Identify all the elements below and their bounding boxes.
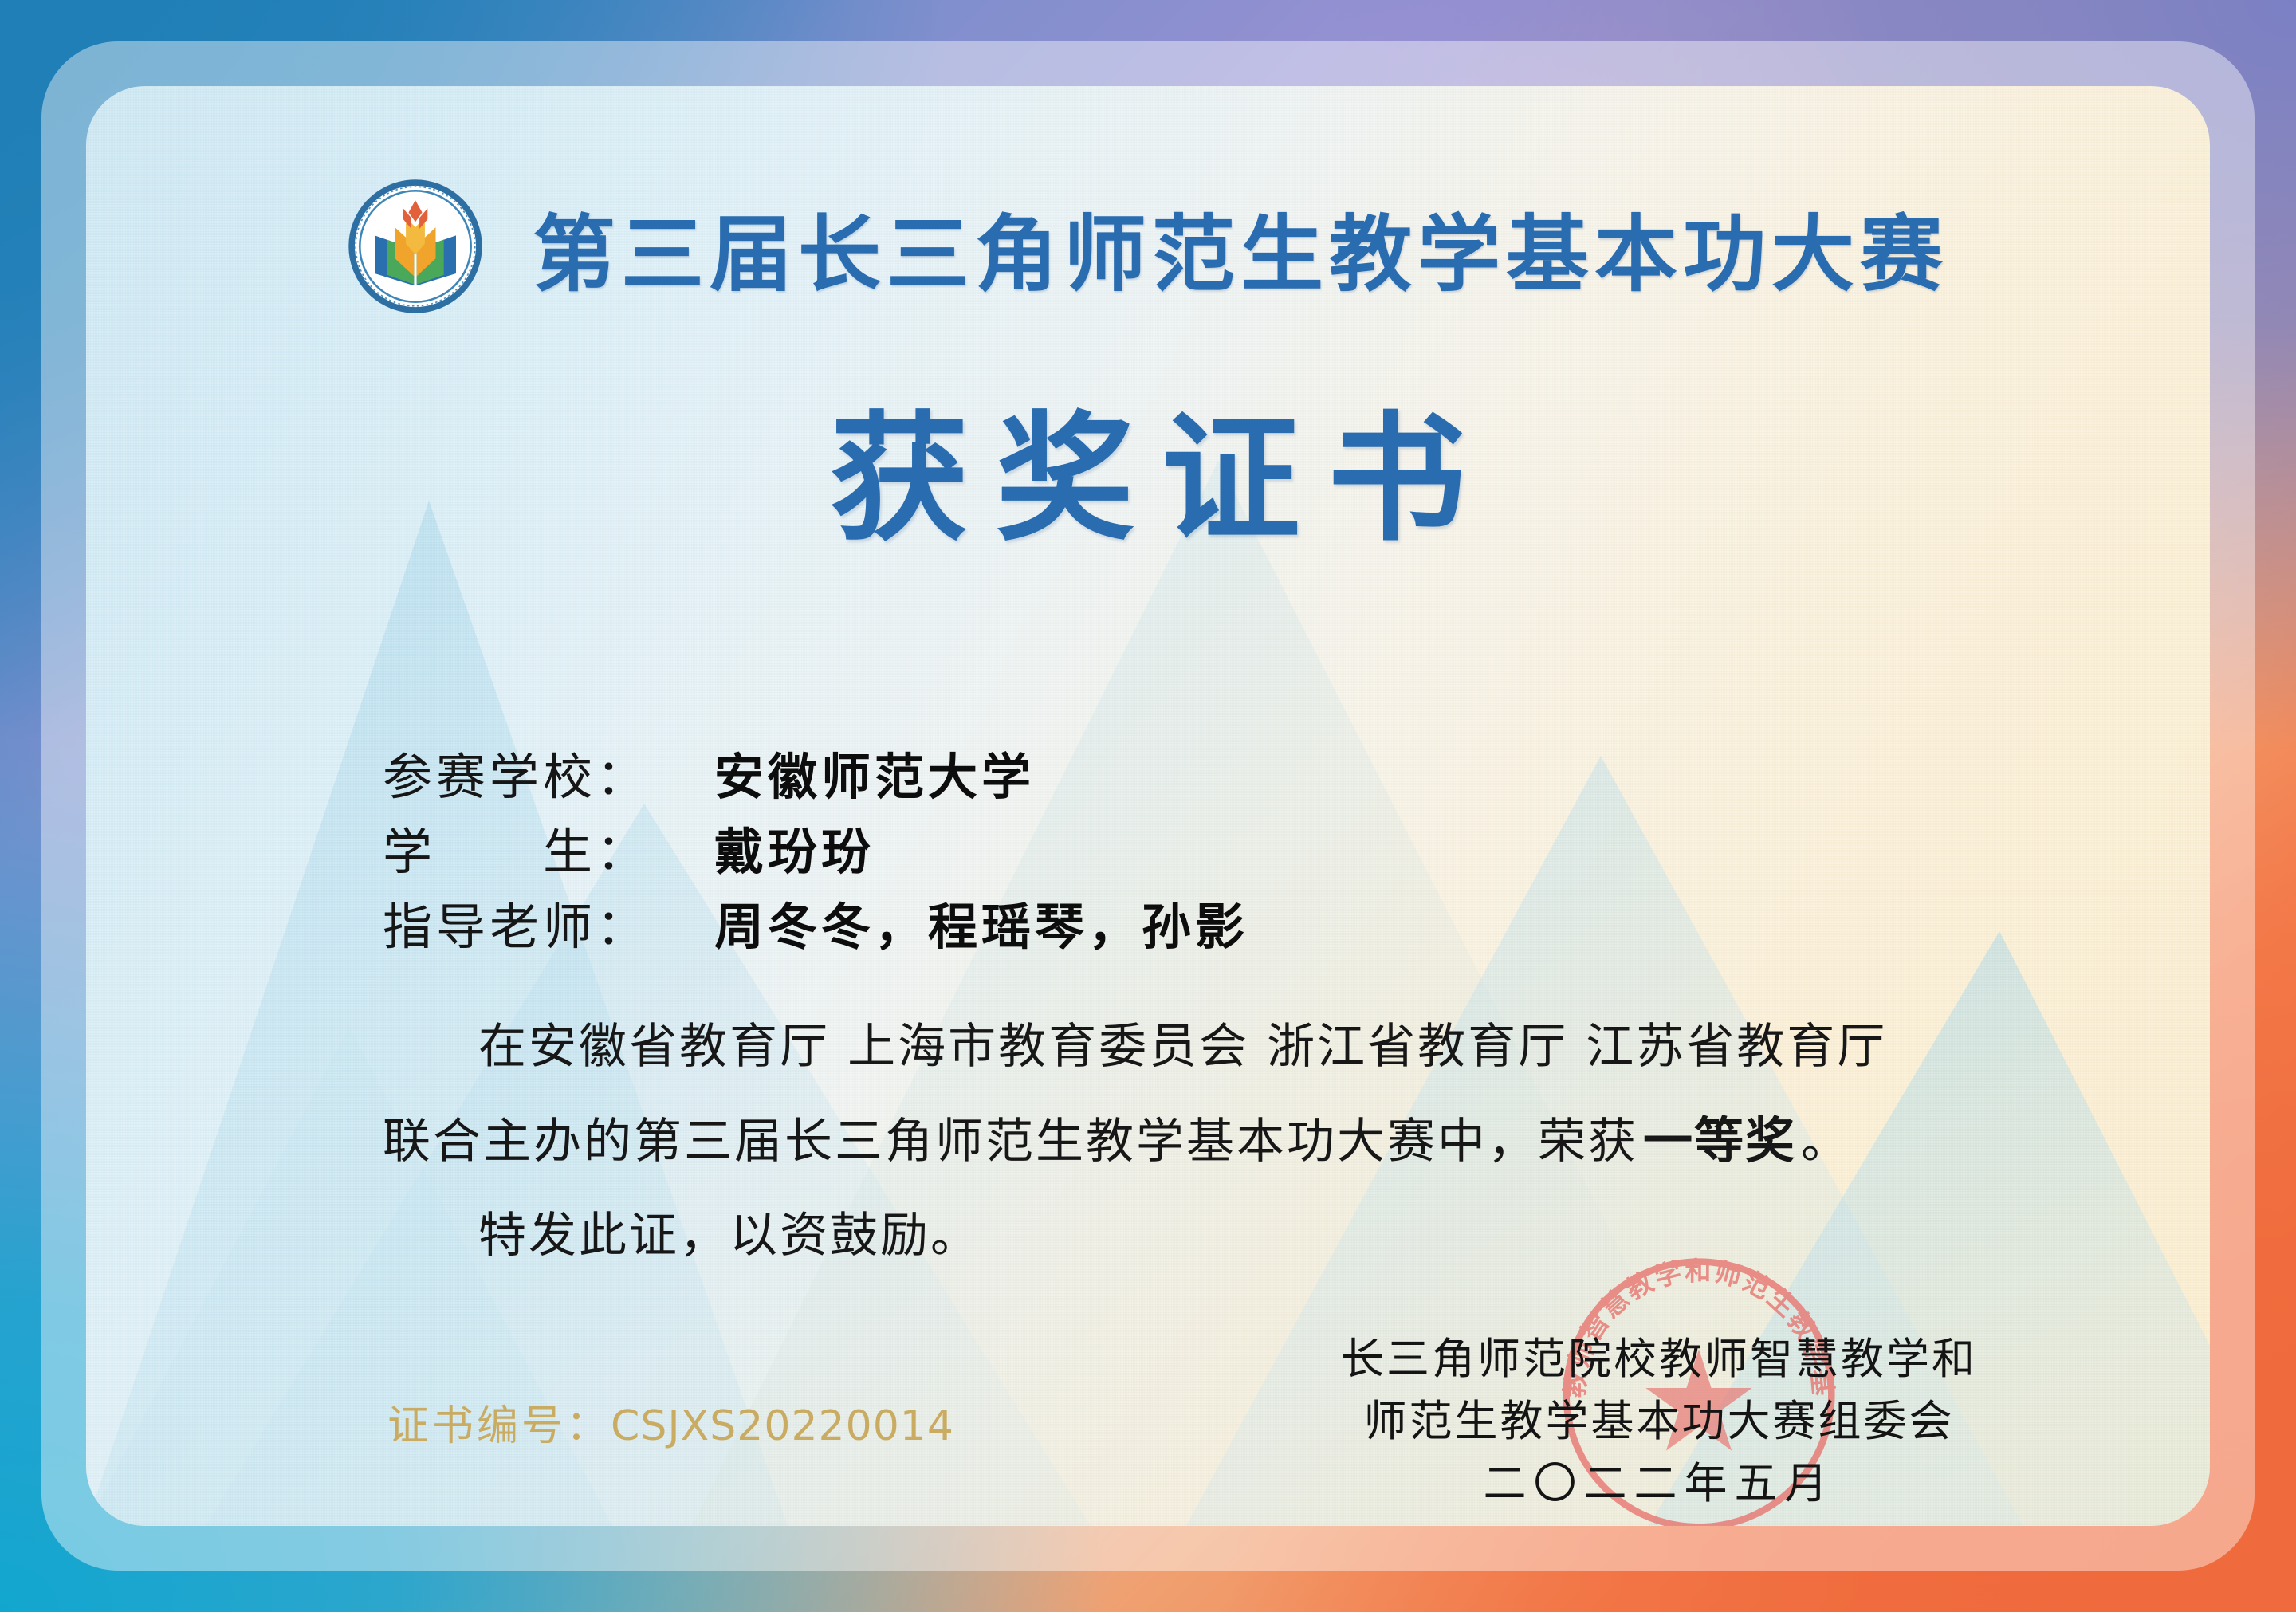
issuer-signature-block: 长三角师范院校教师智慧教学和 师范生教学基本功大赛组委会 二〇二二年五月 bbox=[1341, 1328, 1977, 1515]
paragraph-line-1: 在安徽省教育厅 上海市教育委员会 浙江省教育厅 江苏省教育厅 bbox=[383, 1000, 1990, 1094]
field-value-advisors: 周冬冬，程瑶琴，孙影 bbox=[714, 890, 1248, 965]
certificate-header: 第三届长三角师范生教学基本功大赛 bbox=[86, 179, 2210, 314]
award-paragraph: 在安徽省教育厅 上海市教育委员会 浙江省教育厅 江苏省教育厅 联合主办的第三届长… bbox=[383, 1000, 1990, 1283]
field-value-student: 戴玢玢 bbox=[714, 815, 875, 890]
certificate-content: 第三届长三角师范生教学基本功大赛 获奖证书 参赛学校： 安徽师范大学 学 生： … bbox=[86, 86, 2210, 1526]
certificate-root: 第三届长三角师范生教学基本功大赛 获奖证书 参赛学校： 安徽师范大学 学 生： … bbox=[0, 0, 2296, 1612]
issue-date: 二〇二二年五月 bbox=[1341, 1453, 1977, 1515]
field-label-school: 参赛学校： bbox=[383, 740, 702, 815]
field-value-school: 安徽师范大学 bbox=[714, 740, 1035, 815]
certificate-number-value: CSJXS20220014 bbox=[611, 1402, 954, 1450]
field-label-student: 学 生： bbox=[383, 815, 702, 890]
issuer-org-line-1: 长三角师范院校教师智慧教学和 bbox=[1341, 1328, 1977, 1390]
issuer-org-line-2: 师范生教学基本功大赛组委会 bbox=[1341, 1390, 1977, 1453]
paragraph-line-2: 联合主办的第三届长三角师范生教学基本功大赛中，荣获一等奖。 bbox=[383, 1094, 1990, 1189]
paragraph-line-2-after: 。 bbox=[1801, 1114, 1851, 1170]
field-row-advisors: 指导老师： 周冬冬，程瑶琴，孙影 bbox=[383, 890, 1971, 965]
certificate-paper: 第三届长三角师范生教学基本功大赛 获奖证书 参赛学校： 安徽师范大学 学 生： … bbox=[86, 86, 2210, 1526]
open-book-emblem-icon bbox=[348, 179, 483, 314]
paragraph-line-1-text: 在安徽省教育厅 上海市教育委员会 浙江省教育厅 江苏省教育厅 bbox=[478, 1019, 1887, 1075]
paragraph-line-2-before: 联合主办的第三届长三角师范生教学基本功大赛中，荣获 bbox=[383, 1114, 1638, 1170]
page-title: 获奖证书 bbox=[86, 367, 2210, 568]
field-row-school: 参赛学校： 安徽师范大学 bbox=[383, 740, 1971, 815]
contest-title: 第三届长三角师范生教学基本功大赛 bbox=[533, 187, 1948, 307]
award-level-text: 一等奖 bbox=[1638, 1111, 1801, 1170]
paragraph-line-3: 特发此证，以资鼓励。 bbox=[383, 1189, 1990, 1283]
certificate-number: 证书编号：CSJXS20220014 bbox=[387, 1392, 954, 1452]
recipient-fields: 参赛学校： 安徽师范大学 学 生： 戴玢玢 指导老师： 周冬冬，程瑶琴，孙影 bbox=[383, 740, 1971, 965]
paragraph-line-3-text: 特发此证，以资鼓励。 bbox=[478, 1208, 981, 1264]
field-label-advisors: 指导老师： bbox=[383, 890, 702, 965]
field-row-student: 学 生： 戴玢玢 bbox=[383, 815, 1971, 890]
certificate-number-label: 证书编号： bbox=[387, 1402, 611, 1450]
